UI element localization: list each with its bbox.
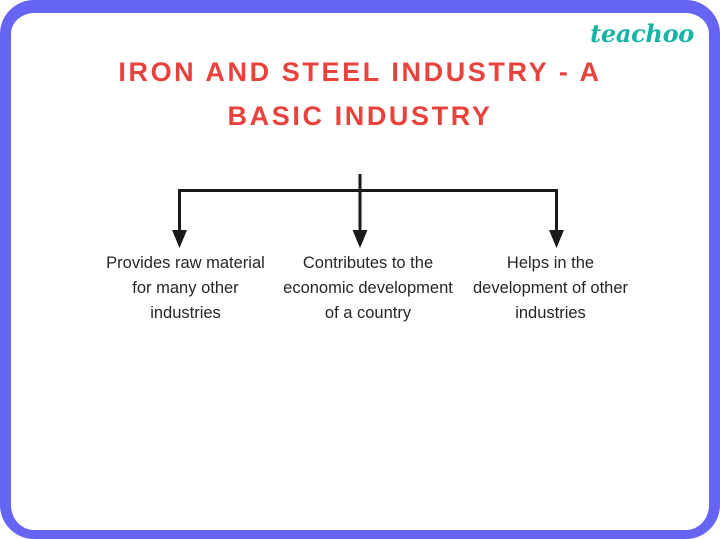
branch-3-arrowhead: [549, 230, 564, 248]
branch-label-economic-development: Contributes to the economic development …: [281, 251, 456, 326]
branch-label-development-other-industries: Helps in the development of other indust…: [463, 251, 638, 326]
branch-label-row: Provides raw material for many other ind…: [98, 251, 638, 326]
branch-label-provides-raw-material: Provides raw material for many other ind…: [98, 251, 273, 326]
branch-2-arrowhead: [353, 230, 368, 248]
slide-canvas: teachoo Iron and Steel Industry - A Basi…: [0, 0, 720, 539]
branch-1-arrowhead: [172, 230, 187, 248]
